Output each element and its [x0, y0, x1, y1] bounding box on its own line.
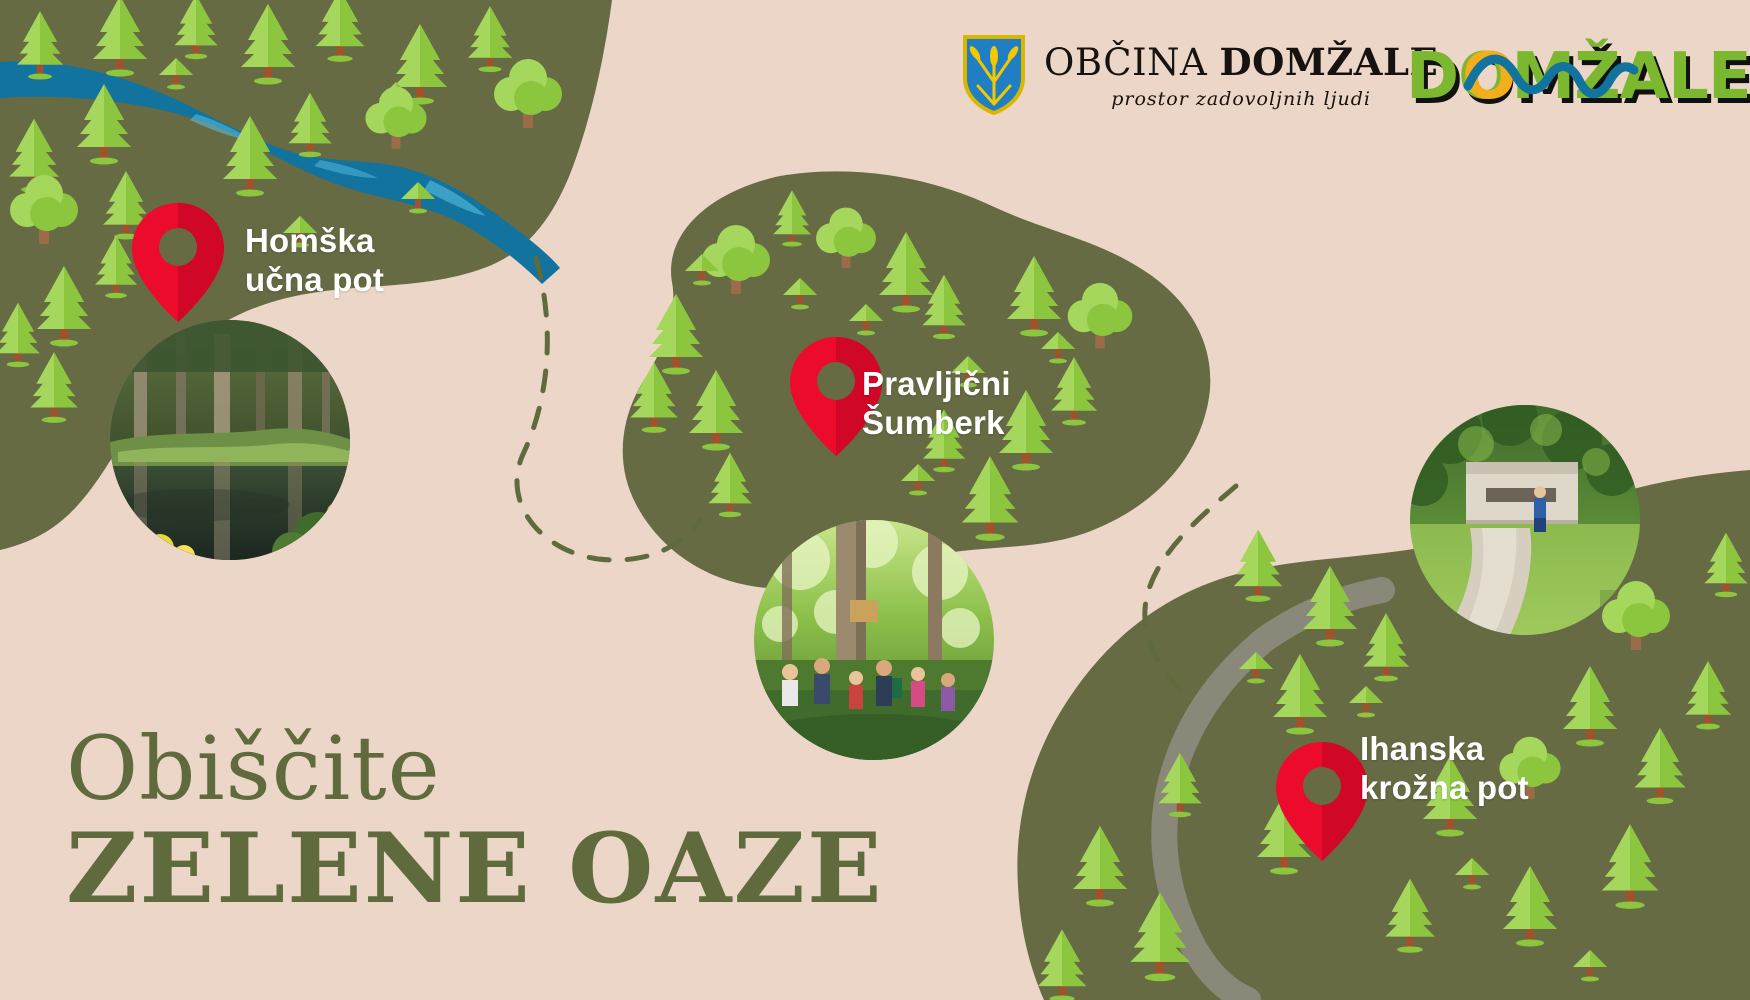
location-label-homska-line2: učna pot	[245, 261, 384, 298]
headline-line2: ZELENE OAZE	[66, 819, 884, 920]
location-label-sumberk: PravljičniŠumberk	[862, 365, 1011, 442]
location-label-homska-line1: Homška	[245, 222, 375, 259]
obcina-wordmark: OBČINA DOMŽALE	[1044, 40, 1438, 84]
obcina-tagline: prostor zadovoljnih ljudi	[1111, 88, 1371, 110]
location-label-ihanska-line1: Ihanska	[1360, 730, 1484, 767]
headline-line1: Obiščite	[66, 725, 868, 813]
location-label-ihanska: Ihanskakrožna pot	[1360, 730, 1529, 807]
poster-canvas: Homškaučna pot PravljičniŠumberk Ihanska…	[0, 0, 1750, 1000]
location-label-sumberk-line1: Pravljični	[862, 365, 1011, 402]
location-label-ihanska-line2: krožna pot	[1360, 769, 1529, 806]
river-squiggle-icon	[1406, 36, 1716, 118]
municipal-crest-icon	[962, 34, 1026, 116]
domzale-tourism-logo: DOMŽALE DOMŽALE O	[1406, 36, 1716, 118]
location-label-sumberk-line2: Šumberk	[862, 404, 1005, 441]
obcina-word-light: OBČINA	[1044, 41, 1220, 84]
obcina-domzale-logo: OBČINA DOMŽALE prostor zadovoljnih ljudi	[962, 34, 1438, 116]
location-label-homska: Homškaučna pot	[245, 222, 384, 299]
headline-block: Obiščite ZELENE OAZE	[66, 725, 868, 920]
